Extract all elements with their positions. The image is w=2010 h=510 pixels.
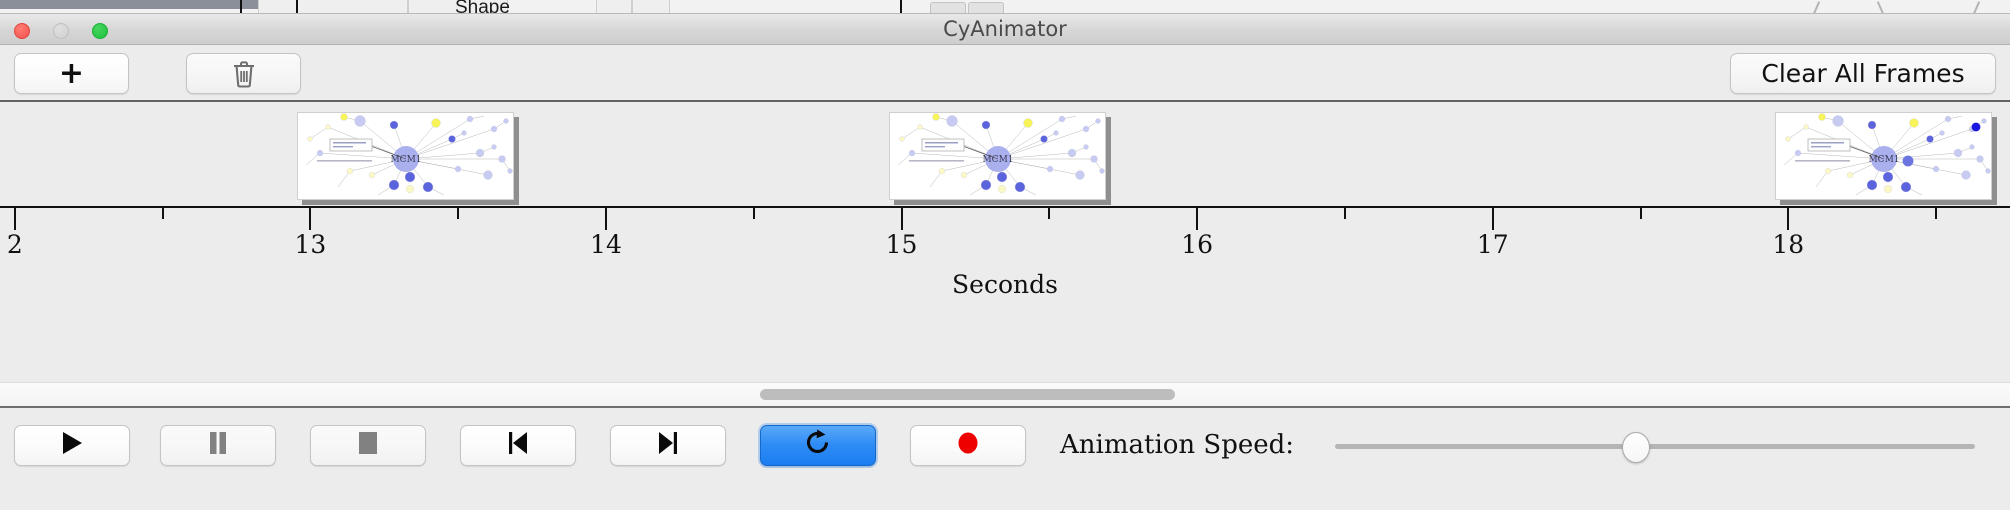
play-button[interactable] — [14, 425, 130, 466]
cyanimator-window: CyAnimator + Clear All Frames MCM1MCM1MC… — [0, 14, 2010, 510]
frame-thumbnail[interactable]: MCM1 — [297, 112, 514, 200]
background-window-strip: Shape — [0, 0, 2010, 14]
background-tick — [900, 0, 902, 13]
timeline-frame[interactable]: MCM1 — [297, 112, 519, 205]
ruler-tick-minor — [1935, 208, 1937, 219]
delete-frame-button[interactable] — [186, 53, 301, 94]
background-tab — [930, 2, 966, 14]
next-frame-button[interactable] — [610, 425, 726, 466]
background-tick — [240, 0, 242, 13]
skip-forward-icon — [655, 429, 681, 462]
ruler-tick-major — [14, 208, 16, 230]
ruler-tick-major — [1492, 208, 1494, 230]
loop-icon — [804, 428, 832, 463]
toolbar: + Clear All Frames — [0, 45, 2010, 102]
ruler-tick-major — [605, 208, 607, 230]
svg-text:MCM1: MCM1 — [982, 155, 1013, 165]
timeline-horizontal-scrollbar[interactable] — [0, 382, 2010, 406]
ruler-tick-label: 17 — [1477, 230, 1509, 259]
add-frame-button[interactable]: + — [14, 53, 129, 94]
pause-icon — [206, 430, 230, 461]
ruler-tick-major — [1196, 208, 1198, 230]
background-tab — [968, 2, 1004, 14]
slider-track — [1335, 444, 1975, 449]
background-divider — [1877, 1, 1885, 14]
loop-button[interactable] — [760, 425, 876, 466]
plus-icon: + — [59, 62, 84, 86]
clear-all-frames-button[interactable]: Clear All Frames — [1730, 53, 1996, 94]
background-toolbar-segment — [596, 0, 632, 14]
slider-thumb[interactable] — [1622, 432, 1650, 463]
timeline-panel[interactable]: MCM1MCM1MCM1 2131415161718 Seconds — [0, 102, 2010, 406]
background-toolbar-segment — [258, 0, 408, 14]
ruler-tick-major — [901, 208, 903, 230]
record-button[interactable] — [910, 425, 1026, 466]
ruler-tick-label: 13 — [294, 230, 326, 259]
timeline-ruler — [0, 206, 2010, 208]
titlebar: CyAnimator — [0, 14, 2010, 45]
ruler-tick-label: 15 — [886, 230, 918, 259]
animation-speed-label: Animation Speed: — [1060, 425, 1294, 466]
ruler-tick-label: 2 — [7, 230, 23, 259]
background-window-dark-area — [0, 0, 258, 9]
stop-icon — [356, 430, 380, 461]
ruler-tick-minor — [162, 208, 164, 219]
svg-text:MCM1: MCM1 — [391, 155, 422, 165]
playback-toolbar: Animation Speed: — [0, 406, 2010, 506]
trash-icon — [231, 60, 257, 88]
ruler-tick-minor — [1640, 208, 1642, 219]
prev-frame-button[interactable] — [460, 425, 576, 466]
background-shape-label: Shape — [455, 0, 510, 14]
skip-back-icon — [505, 429, 531, 462]
frame-thumbnail[interactable]: MCM1 — [889, 112, 1106, 200]
frame-thumbnail[interactable]: MCM1 — [1775, 112, 1992, 200]
clear-all-frames-label: Clear All Frames — [1761, 59, 1964, 88]
ruler-tick-major — [309, 208, 311, 230]
timeline-frame[interactable]: MCM1 — [1775, 112, 1997, 205]
stop-button[interactable] — [310, 425, 426, 466]
background-toolbar-segment — [632, 0, 670, 14]
ruler-tick-major — [1787, 208, 1789, 230]
ruler-tick-minor — [1344, 208, 1346, 219]
animation-speed-slider[interactable] — [1335, 425, 1975, 466]
record-icon — [955, 429, 981, 462]
background-divider — [1812, 1, 1820, 14]
ruler-tick-minor — [1048, 208, 1050, 219]
ruler-tick-label: 16 — [1181, 230, 1213, 259]
ruler-tick-minor — [753, 208, 755, 219]
scrollbar-thumb[interactable] — [760, 389, 1175, 400]
background-tick — [296, 0, 298, 13]
background-divider — [1972, 1, 1980, 14]
svg-text:MCM1: MCM1 — [1869, 155, 1900, 165]
window-title: CyAnimator — [0, 14, 2010, 44]
ruler-tick-minor — [457, 208, 459, 219]
pause-button[interactable] — [160, 425, 276, 466]
ruler-tick-label: 18 — [1772, 230, 1804, 259]
axis-title: Seconds — [0, 270, 2010, 299]
ruler-tick-label: 14 — [590, 230, 622, 259]
timeline-frame[interactable]: MCM1 — [889, 112, 1111, 205]
play-icon — [59, 429, 85, 462]
